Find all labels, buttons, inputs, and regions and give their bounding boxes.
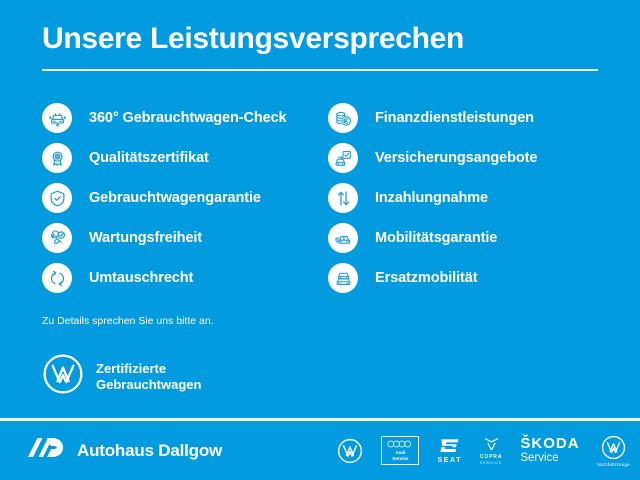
autohaus-dallgow-monogram [26,435,64,466]
benefit-label: Inzahlungnahme [375,190,488,206]
benefit-item-gebrauchtwagen-check[interactable]: 360° Gebrauchtwagen-Check [42,98,332,138]
promo-card: Unsere Leistungsversprechen 360° Gebrauc… [0,0,640,480]
benefit-item-qualitaetszertifikat[interactable]: Qualitätszertifikat [42,138,332,178]
title-divider [42,69,598,71]
benefit-item-ersatzmobilitaet[interactable]: Ersatzmobilität [328,258,618,298]
benefit-item-gebrauchtwagengarantie[interactable]: Gebrauchtwagengarantie [42,178,332,218]
brand-logo-strip: Audi Service SEAT CUPRA SERVICE [337,421,630,480]
benefit-label: Mobilitätsgarantie [375,230,497,246]
certified-label: Zertifizierte Gebrauchtwagen [96,361,201,393]
audi-caption-line-2: Service [392,456,408,461]
benefit-label: Versicherungsangebote [375,150,537,166]
benefit-label: Umtauschrecht [89,270,193,286]
brand-volkswagen [337,429,363,473]
brand-vw-nutzfahrzeuge: Nutzfahrzeuge [598,429,630,473]
brand-cupra-service: CUPRA SERVICE [480,429,502,473]
up-down-arrows-icon [328,183,358,213]
benefit-label: Finanzdienstleistungen [375,110,534,126]
audi-caption-line-1: Audi [395,450,405,455]
skoda-service-label: Service [520,452,558,464]
benefit-item-inzahlungnahme[interactable]: Inzahlungnahme [328,178,618,218]
dealer-name: Autohaus Dallgow [77,441,222,461]
benefit-item-versicherungsangebote[interactable]: Versicherungsangebote [328,138,618,178]
benefit-item-umtauschrecht[interactable]: Umtauschrecht [42,258,332,298]
car-document-check-icon [328,143,358,173]
brand-skoda-service: ŠKODA Service [520,429,579,473]
benefit-item-finanzdienstleistungen[interactable]: Finanzdienstleistungen [328,98,618,138]
certified-line-2: Gebrauchtwagen [96,377,201,392]
benefits-column-right: Finanzdienstleistungen Versicherungsange… [328,98,618,298]
car-360-check-icon [42,103,72,133]
benefit-item-wartungsfreiheit[interactable]: Wartungsfreiheit [42,218,332,258]
exchange-arrows-icon [42,263,72,293]
nutzfahrzeuge-caption: Nutzfahrzeuge [598,462,630,467]
van-motion-icon [328,223,358,253]
certified-used-cars-block: Zertifizierte Gebrauchtwagen [42,353,201,400]
cupra-caption-line-2: SERVICE [480,461,502,465]
benefit-label: Wartungsfreiheit [89,230,202,246]
brand-seat: SEAT [437,429,462,473]
benefit-label: Qualitätszertifikat [89,150,209,166]
page-title: Unsere Leistungsversprechen [42,22,464,56]
cupra-caption: CUPRA SERVICE [480,454,502,465]
shield-check-icon [42,183,72,213]
benefits-column-left: 360° Gebrauchtwagen-Check Qualitätszerti… [42,98,332,298]
benefit-label: 360° Gebrauchtwagen-Check [89,110,287,126]
benefit-label: Gebrauchtwagengarantie [89,190,261,206]
seat-caption: SEAT [437,457,462,464]
award-rosette-icon [42,143,72,173]
footer-bar: Autohaus Dallgow [0,421,640,480]
benefit-item-mobilitaetsgarantie[interactable]: Mobilitätsgarantie [328,218,618,258]
volkswagen-logo [42,353,84,400]
certified-line-1: Zertifizierte [96,361,166,376]
wrench-check-icon [42,223,72,253]
contact-note: Zu Details sprechen Sie uns bitte an. [42,315,214,327]
dealer-branding[interactable]: Autohaus Dallgow [26,435,222,466]
cupra-caption-line-1: CUPRA [480,454,502,460]
benefit-label: Ersatzmobilität [375,270,477,286]
brand-audi-service: Audi Service [381,429,419,473]
coins-euro-icon [328,103,358,133]
two-cars-icon [328,263,358,293]
skoda-wordmark: ŠKODA [520,436,579,451]
